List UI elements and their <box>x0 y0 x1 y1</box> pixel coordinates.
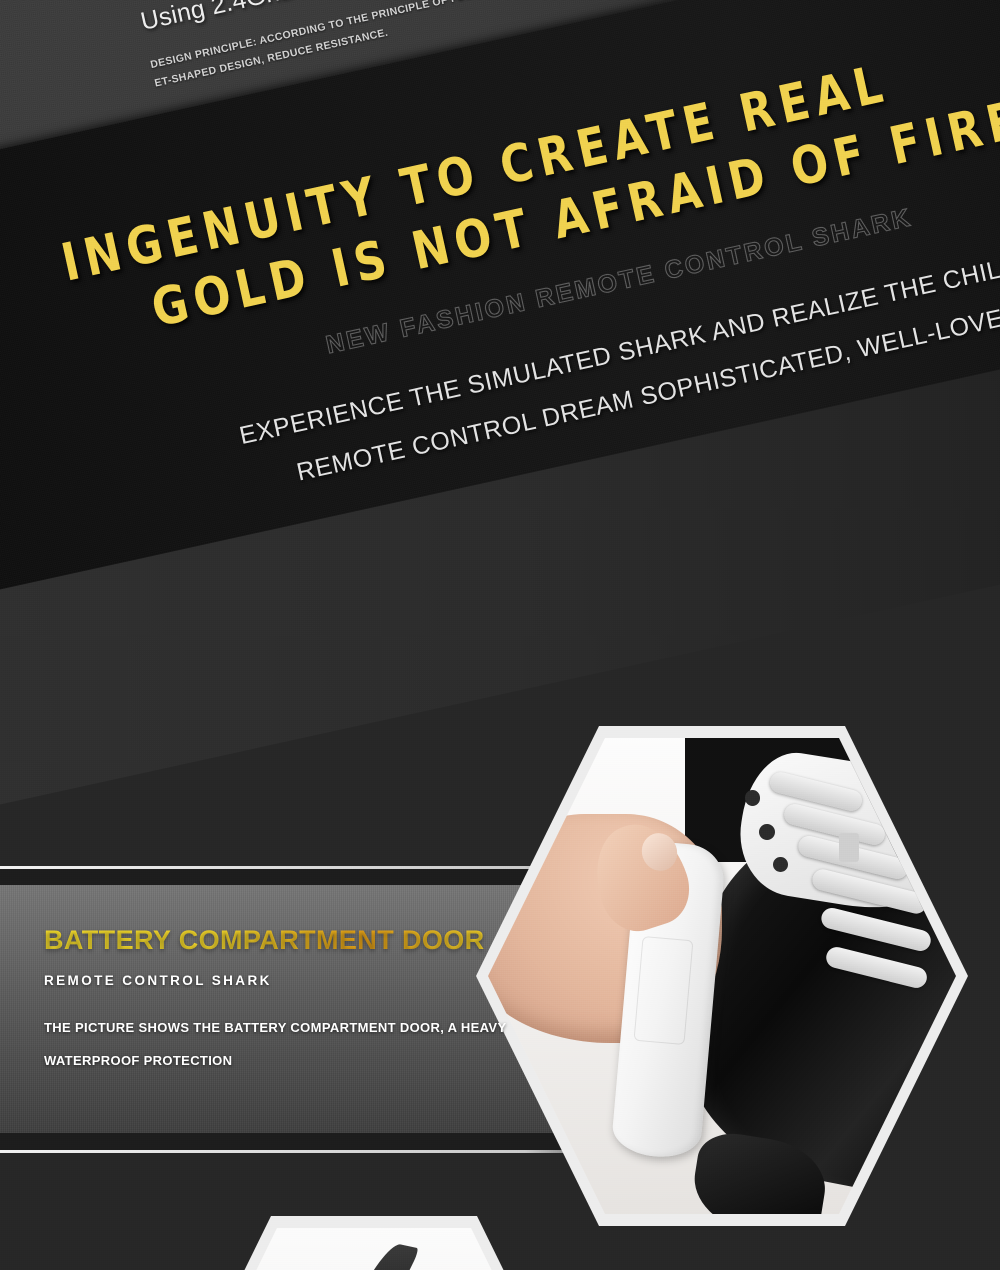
battery-body-line2: WATERPROOF PROTECTION <box>44 1045 564 1078</box>
hex-photo-shark-closeup <box>168 1216 580 1270</box>
battery-door-embossing <box>633 936 693 1045</box>
battery-panel-bottom-edge <box>0 1150 640 1153</box>
battery-subtitle: REMOTE CONTROL SHARK <box>44 973 564 988</box>
shark-vent-hole <box>745 790 760 805</box>
hex-photo-inner <box>180 1228 568 1270</box>
ingenuity-feature-panel: INGENUITY TO CREATE REAL GOLD IS NOT AFR… <box>0 0 1000 805</box>
shark-closeup-photo <box>180 1228 568 1270</box>
battery-text-block: BATTERY COMPARTMENT DOOR REMOTE CONTROL … <box>44 925 564 1077</box>
shark-sensor-window <box>839 833 859 862</box>
product-detail-page: 2.4GHZ REMOTE CONTROL, MULTI-PLAYER INTE… <box>0 0 1000 1270</box>
battery-body: THE PICTURE SHOWS THE BATTERY COMPARTMEN… <box>44 1012 564 1077</box>
battery-body-line1: THE PICTURE SHOWS THE BATTERY COMPARTMEN… <box>44 1012 564 1045</box>
battery-panel-bottom-gap <box>0 1133 640 1150</box>
battery-title: BATTERY COMPARTMENT DOOR <box>44 925 564 956</box>
shark-dorsal-fin <box>325 1241 420 1270</box>
